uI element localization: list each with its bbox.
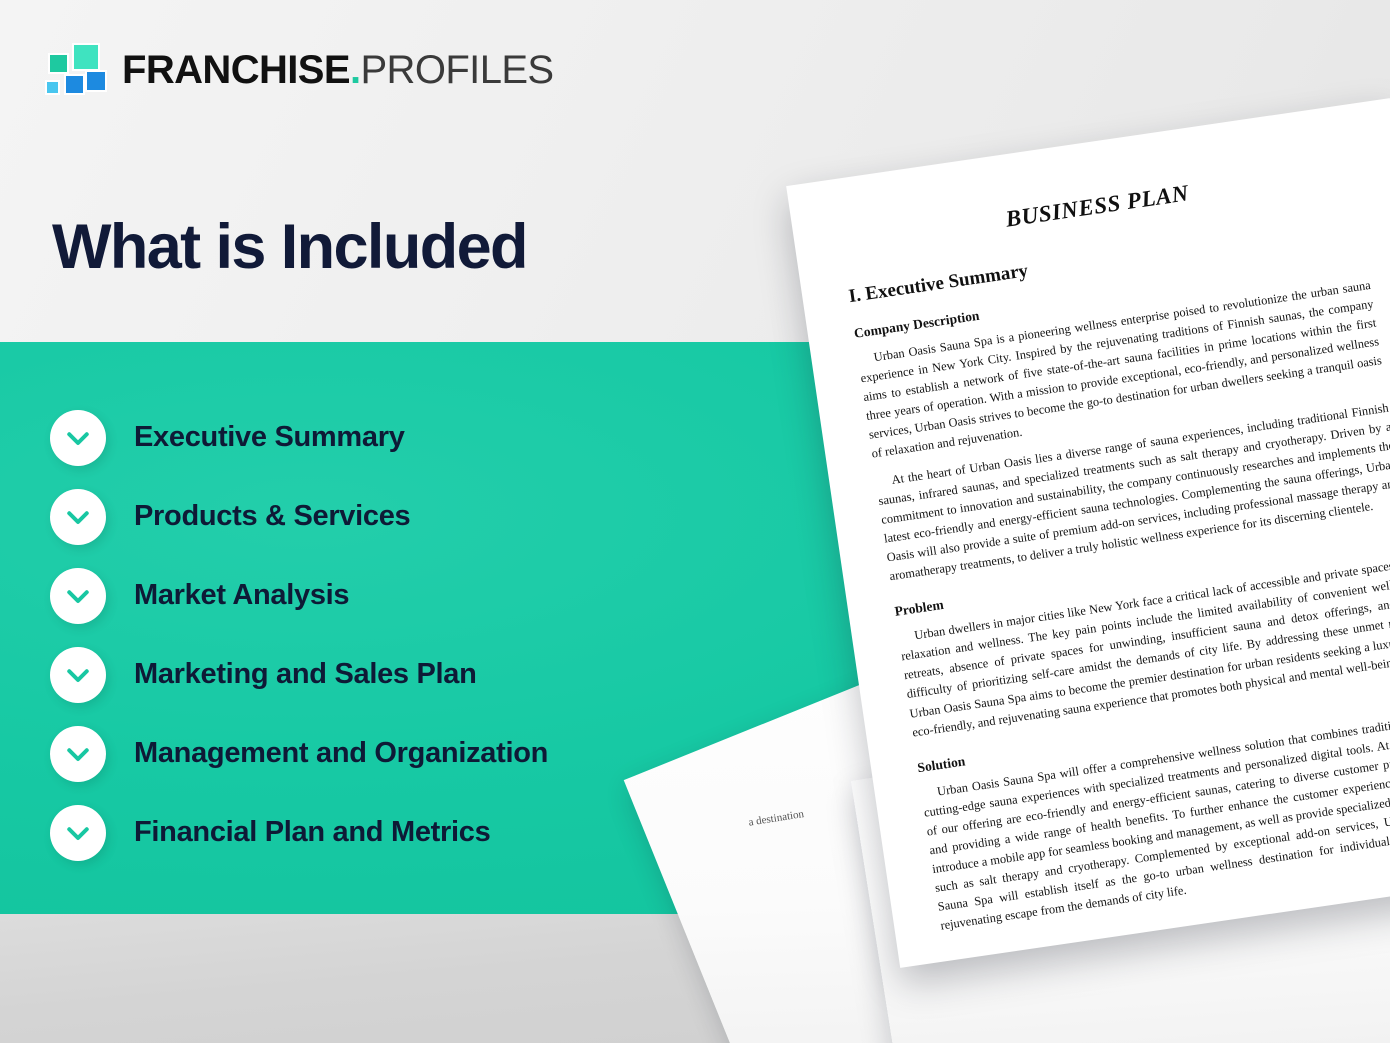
chevron-down-icon	[50, 489, 106, 545]
list-item-label: Products & Services	[134, 500, 410, 533]
chevron-down-icon	[50, 726, 106, 782]
logo-wordmark: FRANCHISE.PROFILES	[122, 50, 554, 90]
logo-word-primary: FRANCHISE	[122, 50, 350, 90]
chevron-down-icon	[50, 568, 106, 624]
chevron-down-icon	[50, 410, 106, 466]
list-item[interactable]: Market Analysis	[50, 556, 750, 635]
slide-canvas: FRANCHISE.PROFILES What is Included Exec…	[0, 0, 1390, 1043]
brand-logo[interactable]: FRANCHISE.PROFILES	[44, 42, 554, 98]
logo-square-4	[64, 74, 85, 95]
list-item-label: Management and Organization	[134, 737, 548, 770]
chevron-down-icon	[50, 647, 106, 703]
logo-word-secondary: PROFILES	[360, 50, 553, 90]
logo-square-3	[45, 80, 60, 95]
chevron-down-icon	[50, 805, 106, 861]
list-item[interactable]: Executive Summary	[50, 398, 750, 477]
business-plan-document-stack[interactable]: a destination as the go-to urban wellnes…	[690, 120, 1390, 1043]
list-item-label: Market Analysis	[134, 579, 349, 612]
list-item-label: Marketing and Sales Plan	[134, 658, 477, 691]
logo-mark-icon	[44, 42, 106, 98]
document-paragraph: Urban Oasis Sauna Spa will offer a compr…	[920, 710, 1390, 936]
list-item[interactable]: Marketing and Sales Plan	[50, 635, 750, 714]
logo-square-2	[72, 43, 100, 71]
logo-square-5	[85, 70, 107, 92]
page-title: What is Included	[52, 213, 527, 281]
logo-word-dot: .	[350, 50, 361, 90]
list-item-label: Executive Summary	[134, 421, 405, 454]
list-item-label: Financial Plan and Metrics	[134, 816, 490, 849]
logo-square-1	[48, 53, 69, 74]
list-item[interactable]: Products & Services	[50, 477, 750, 556]
